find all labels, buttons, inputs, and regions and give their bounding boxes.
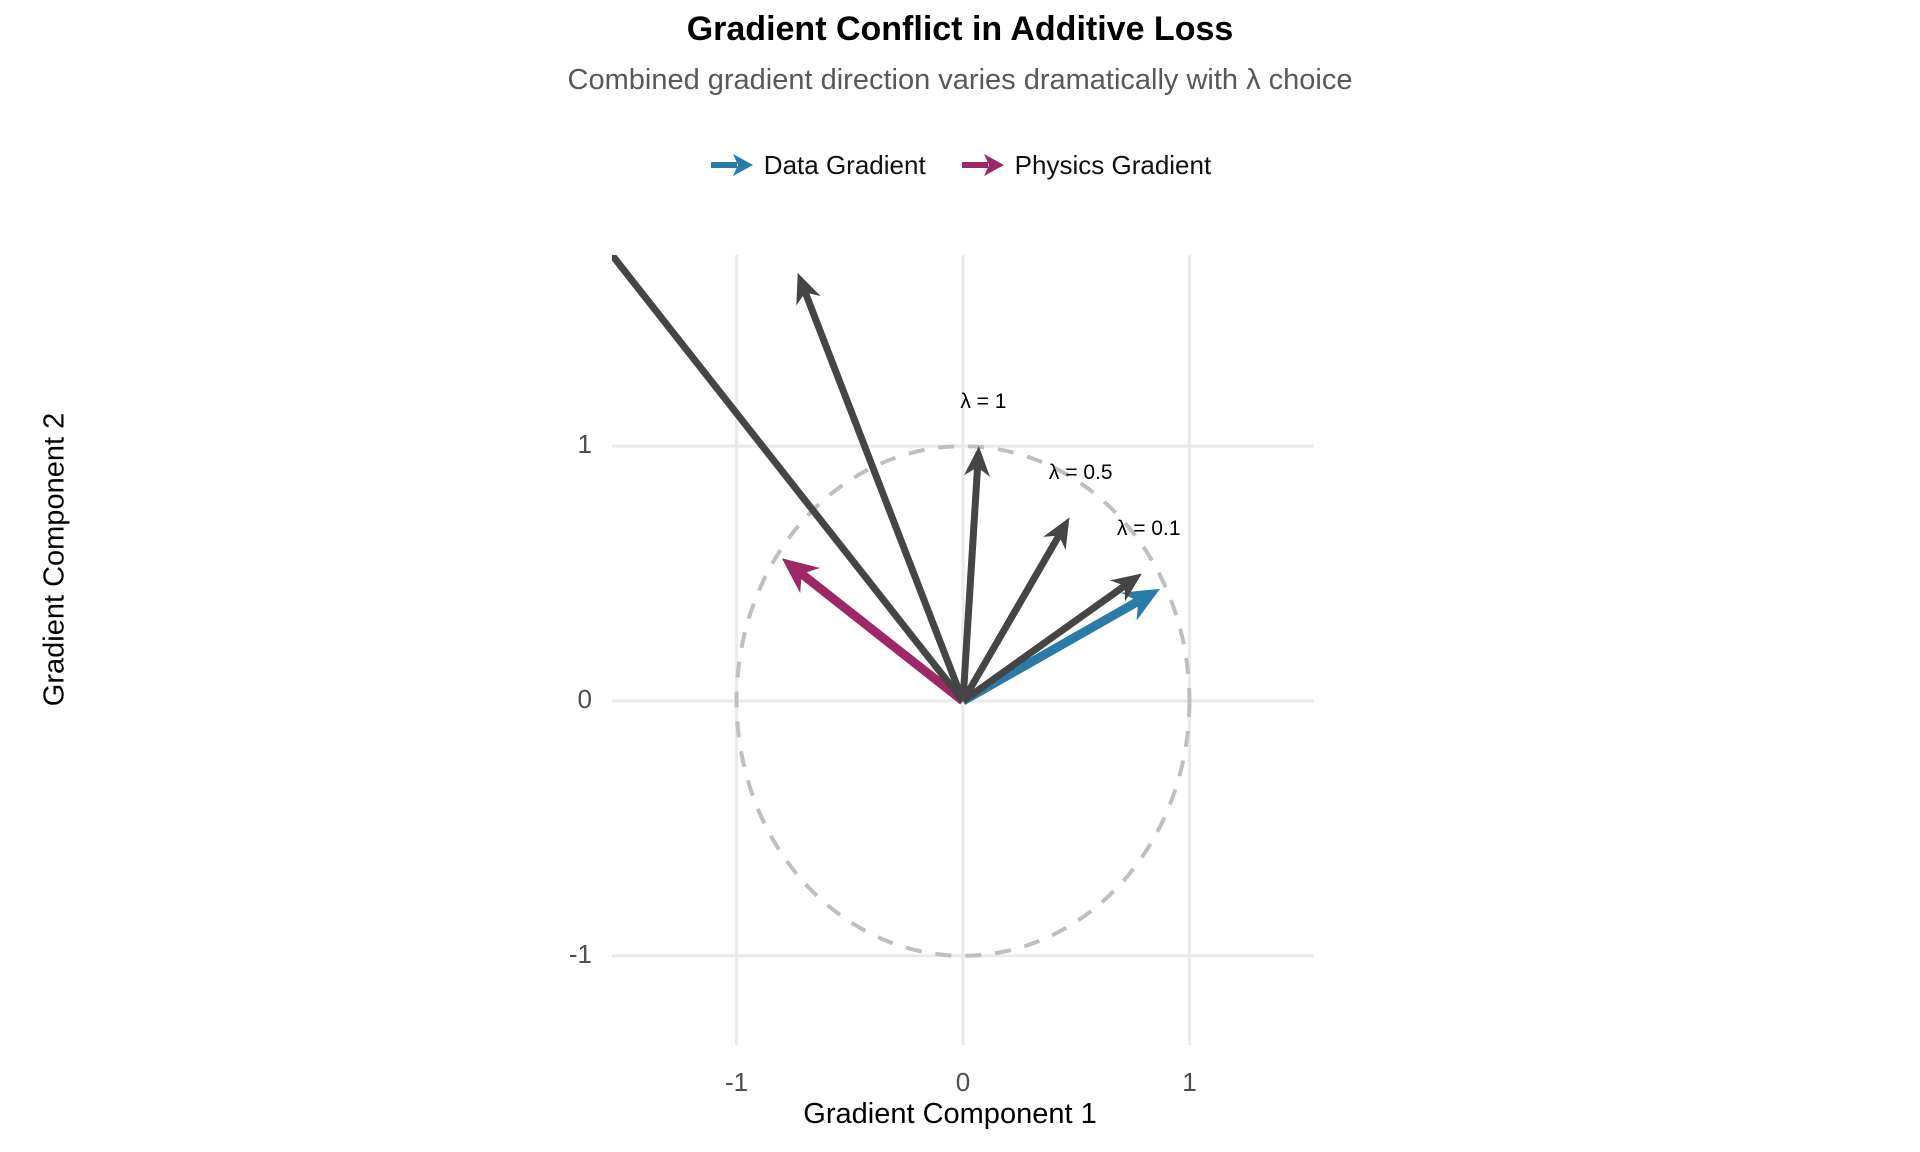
vector-data bbox=[963, 589, 1160, 701]
legend-item-physics-gradient[interactable]: Physics Gradient bbox=[960, 150, 1212, 180]
x-tick-label: 1 bbox=[1129, 1067, 1249, 1098]
y-tick-label: -1 bbox=[482, 939, 592, 970]
vector-lambda-0.1 bbox=[963, 574, 1142, 701]
vector-label: λ = 0.5 bbox=[1049, 461, 1113, 485]
chart-legend: Data Gradient Physics Gradient bbox=[0, 150, 1920, 180]
x-tick-label: 0 bbox=[903, 1067, 1023, 1098]
vector-lambda-5 bbox=[612, 255, 963, 701]
vector-lambda-2 bbox=[796, 273, 963, 701]
chart-root: Gradient Conflict in Additive Loss Combi… bbox=[0, 0, 1920, 1152]
vector-label: λ = 1 bbox=[960, 390, 1006, 414]
legend-item-data-gradient[interactable]: Data Gradient bbox=[709, 150, 926, 180]
legend-label-data-gradient: Data Gradient bbox=[764, 152, 926, 178]
y-tick-label: 0 bbox=[482, 684, 592, 715]
arrow-right-icon bbox=[709, 150, 755, 180]
vector-lambda-0.5 bbox=[963, 517, 1069, 700]
x-axis-title: Gradient Component 1 bbox=[600, 1098, 1300, 1131]
vector-physics bbox=[782, 558, 963, 701]
page-subtitle: Combined gradient direction varies drama… bbox=[0, 64, 1920, 97]
arrow-right-icon bbox=[960, 150, 1006, 180]
vector-lambda-1 bbox=[963, 446, 990, 701]
x-tick-label: -1 bbox=[677, 1067, 797, 1098]
legend-label-physics-gradient: Physics Gradient bbox=[1015, 152, 1212, 178]
page-title: Gradient Conflict in Additive Loss bbox=[0, 10, 1920, 49]
y-tick-label: 1 bbox=[482, 429, 592, 460]
gridlines bbox=[612, 255, 1314, 1045]
vector-label: λ = 0.1 bbox=[1117, 517, 1181, 541]
y-axis-title: Gradient Component 2 bbox=[39, 310, 72, 810]
